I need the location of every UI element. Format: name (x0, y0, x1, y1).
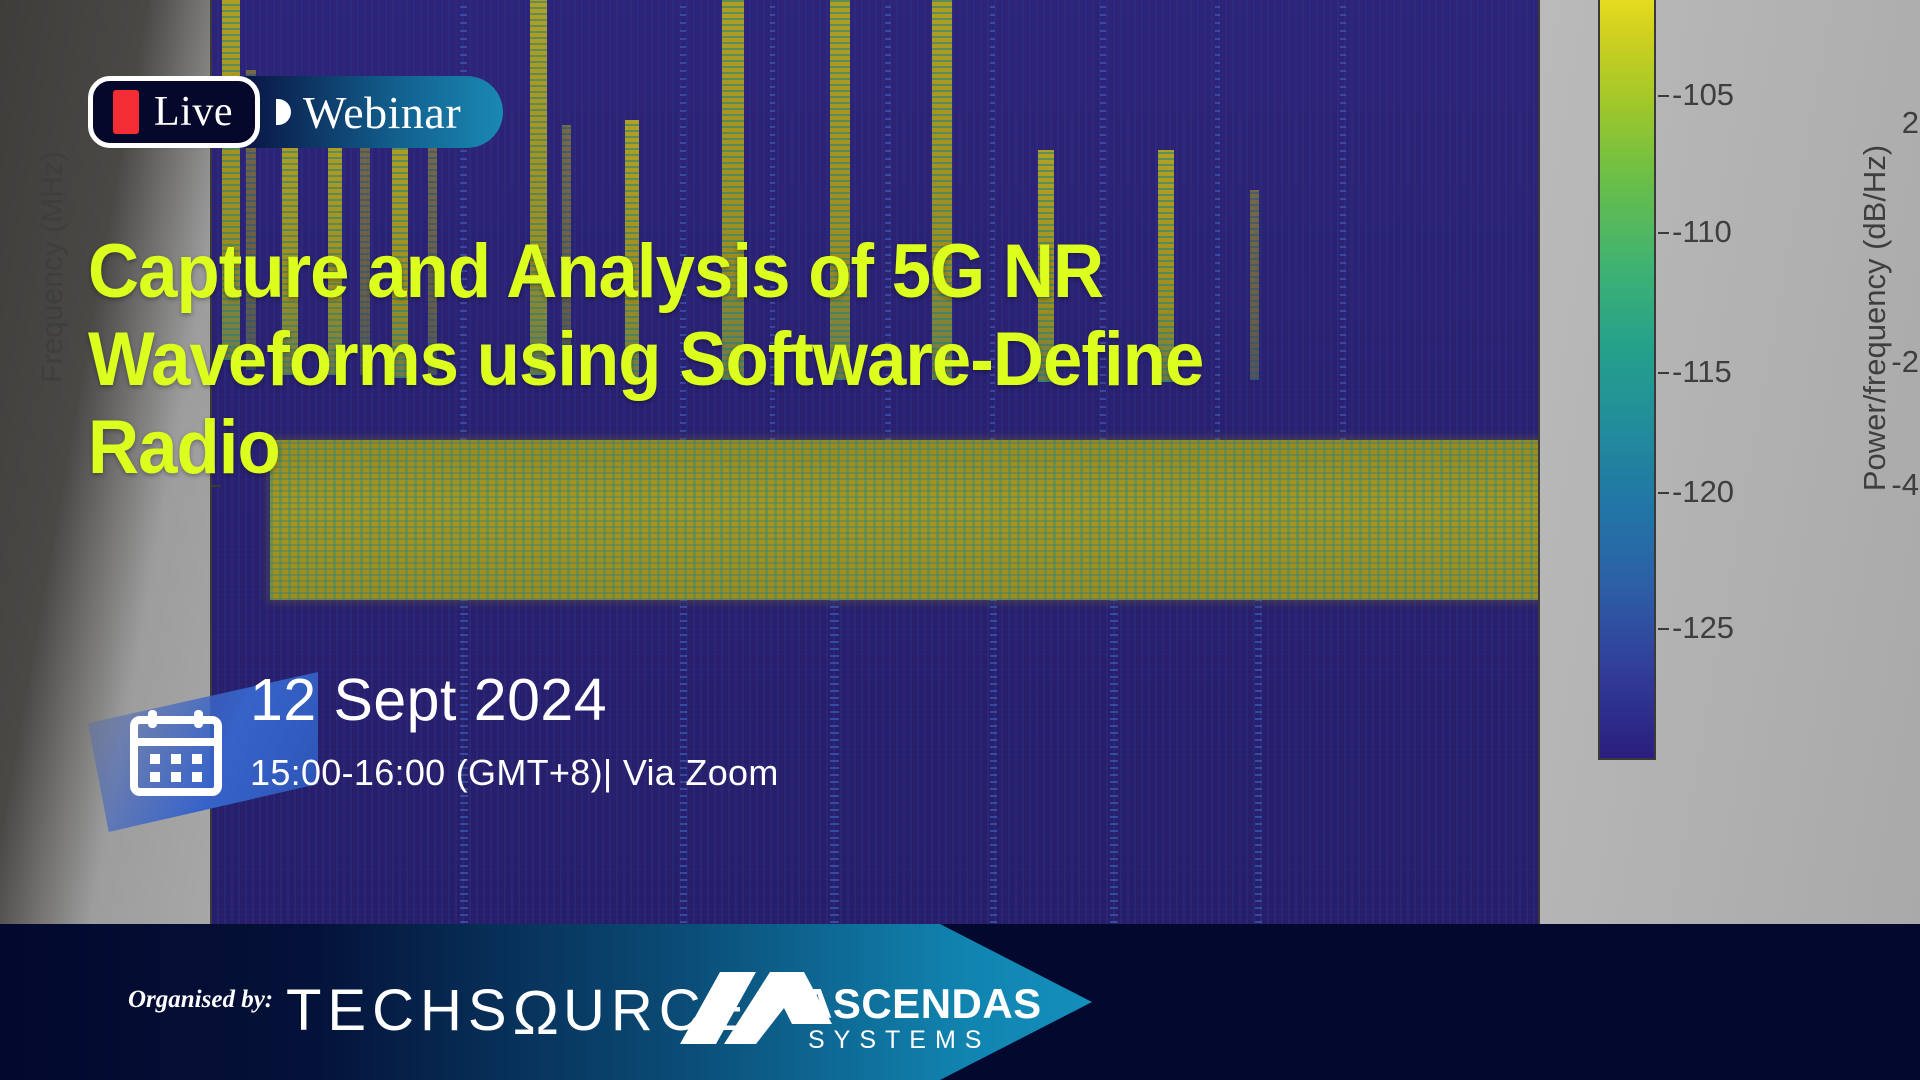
footer-bar: Organised by: TECHS Ω URCE ASCENDAS SYST… (0, 924, 1920, 1080)
ascendas-name: ASCENDAS (802, 980, 1042, 1028)
page-title: Capture and Analysis of 5G NR Waveforms … (88, 228, 1232, 492)
event-time-venue: 15:00-16:00 (GMT+8)| Via Zoom (250, 752, 779, 794)
promo-overlay: Live Webinar Capture and Analysis of 5G … (0, 0, 1920, 1080)
ascendas-subtitle: SYSTEMS (808, 1026, 990, 1055)
live-label: Live (154, 88, 233, 136)
omega-icon: Ω (513, 978, 563, 1049)
live-webinar-badge: Live Webinar (88, 76, 503, 148)
event-details: 12 Sept 2024 15:00-16:00 (GMT+8)| Via Zo… (88, 672, 848, 832)
calendar-icon (130, 708, 222, 796)
event-date: 12 Sept 2024 (250, 666, 607, 734)
badge-dot-icon (276, 99, 291, 125)
webinar-label: Webinar (303, 86, 461, 139)
organised-by-label: Organised by: (128, 986, 273, 1014)
techsource-part1: TECHS (286, 977, 513, 1044)
live-indicator-icon (113, 90, 139, 134)
live-pill: Live (88, 76, 260, 148)
